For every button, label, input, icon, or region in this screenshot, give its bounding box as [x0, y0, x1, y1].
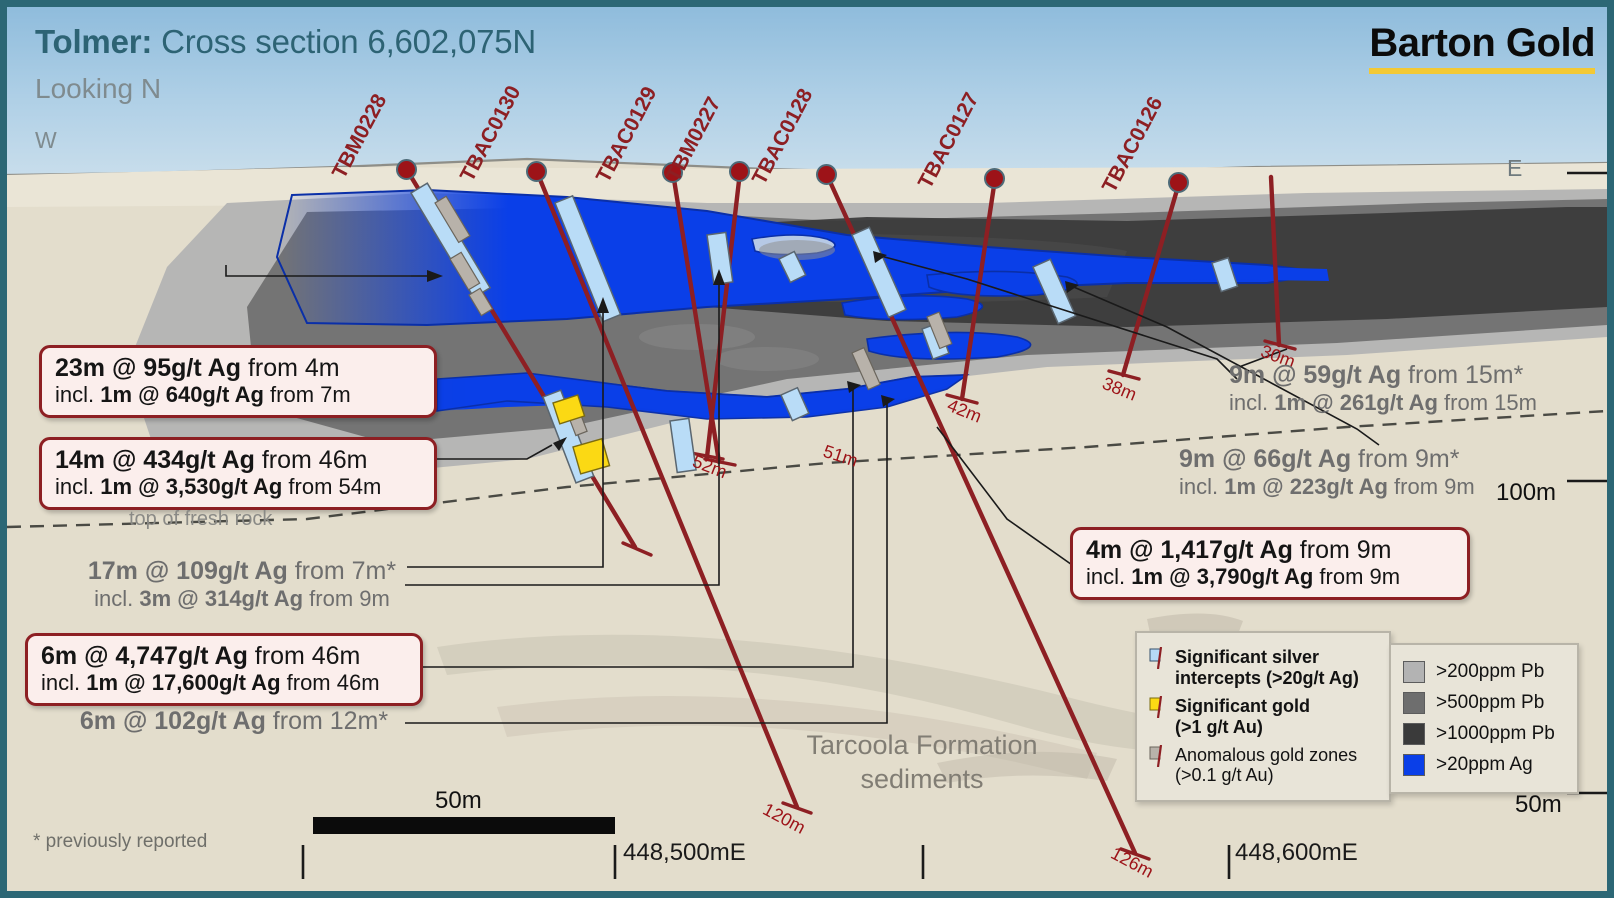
callout-box-6m-4747gt: 6m @ 4,747g/t Ag from 46m incl. 1m @ 17,… [25, 633, 423, 706]
intercept-label-6m-102gt: 6m @ 102g/t Ag from 12m* [69, 707, 399, 736]
legend-row-silver: Significant silver intercepts (>20g/t Ag… [1149, 647, 1377, 689]
logo-underline-bar [1369, 68, 1595, 74]
horizontal-scale-label: 50m [435, 787, 482, 815]
formation-label: Tarcoola Formation sediments [797, 729, 1047, 797]
callout-c3-line1-bold: 6m @ 4,747g/t Ag [41, 642, 248, 670]
callout-c4-line1-rest: from 9m [1293, 536, 1392, 564]
legend-label-20ppm-ag: >20ppm Ag [1436, 754, 1533, 776]
legend-gold-line1: Significant gold [1175, 696, 1310, 716]
callout-c2-line2-pre: incl. [55, 474, 100, 499]
callout-c4-line2-bold: 1m @ 3,790g/t Ag [1131, 564, 1313, 589]
west-marker: W [35, 127, 57, 154]
legend-silver-line1: Significant silver [1175, 647, 1319, 667]
anomalous-flag-icon [1149, 745, 1166, 767]
legend-anomalous-line1: Anomalous gold zones [1175, 745, 1357, 765]
grey-g3-line1-bold: 9m @ 59g/t Ag [1229, 361, 1401, 389]
legend-anomalous-text: Anomalous gold zones (>0.1 g/t Au) [1175, 745, 1357, 787]
grey-g4-line2-rest: from 9m [1388, 474, 1475, 499]
formation-line-2: sediments [797, 763, 1047, 797]
grey-g1-line2-bold: 3m @ 314g/t Ag [139, 586, 303, 611]
logo-text: Barton Gold [1369, 21, 1595, 66]
legend-geochem-row-500pb: >500ppm Pb [1403, 692, 1565, 714]
callout-c1-line1-rest: from 4m [241, 354, 340, 382]
collar-TBM0228[interactable] [396, 159, 417, 180]
grey-g3-line2-pre: incl. [1229, 390, 1274, 415]
grey-g1-line2-pre: incl. [94, 586, 139, 611]
title-rest: Cross section 6,602,075N [152, 23, 536, 60]
vertical-scale-label-100m: 100m [1496, 479, 1556, 507]
grey-g3-line2-bold: 1m @ 261g/t Ag [1274, 390, 1438, 415]
collar-TBAC0130[interactable] [526, 161, 547, 182]
silver-flag-icon [1149, 647, 1166, 669]
view-direction-subtitle: Looking N [35, 73, 161, 105]
callout-c4-line1-bold: 4m @ 1,417g/t Ag [1086, 536, 1293, 564]
grey-g4-line1-bold: 9m @ 66g/t Ag [1179, 445, 1351, 473]
legend-geochem-row-20ag: >20ppm Ag [1403, 754, 1565, 776]
grey-g2-line1-rest: from 12m* [266, 707, 388, 735]
page-title: Tolmer: Cross section 6,602,075N [35, 23, 536, 61]
grey-g4-line1-rest: from 9m* [1351, 445, 1459, 473]
swatch-1000ppm-pb [1403, 723, 1425, 745]
formation-line-1: Tarcoola Formation [797, 729, 1047, 763]
grey-g3-line1-rest: from 15m* [1401, 361, 1523, 389]
legend-geochem: >200ppm Pb >500ppm Pb >1000ppm Pb >20ppm… [1389, 643, 1579, 794]
collar-TBAC0128[interactable] [816, 164, 837, 185]
legend-geochem-row-1000pb: >1000ppm Pb [1403, 723, 1565, 745]
legend-label-500ppm-pb: >500ppm Pb [1436, 692, 1544, 714]
collar-TBM0227[interactable] [729, 161, 750, 182]
legend-gold-line2: (>1 g/t Au) [1175, 717, 1263, 737]
legend-anomalous-line2: (>0.1 g/t Au) [1175, 765, 1274, 785]
callout-c3-line2-pre: incl. [41, 670, 86, 695]
intercept-label-17m-109gt: 17m @ 109g/t Ag from 7m* incl. 3m @ 314g… [77, 557, 407, 612]
vertical-scale-label-50m: 50m [1515, 791, 1562, 819]
callout-c2-line2-rest: from 54m [282, 474, 381, 499]
legend-row-anomalous: Anomalous gold zones (>0.1 g/t Au) [1149, 745, 1377, 787]
legend-silver-text: Significant silver intercepts (>20g/t Ag… [1175, 647, 1359, 689]
callout-box-14m-434gt: 14m @ 434g/t Ag from 46m incl. 1m @ 3,53… [39, 437, 437, 510]
callout-box-4m-1417gt: 4m @ 1,417g/t Ag from 9m incl. 1m @ 3,79… [1070, 527, 1470, 600]
callout-c4-line2-rest: from 9m [1313, 564, 1400, 589]
swatch-20ppm-ag [1403, 754, 1425, 776]
swatch-500ppm-pb [1403, 692, 1425, 714]
callout-c2-line1-rest: from 46m [255, 446, 368, 474]
grey-g3-line2-rest: from 15m [1438, 390, 1537, 415]
intercept-label-9m-66gt: 9m @ 66g/t Ag from 9m* incl. 1m @ 223g/t… [1179, 445, 1475, 500]
east-marker: E [1507, 155, 1522, 182]
legend-label-1000ppm-pb: >1000ppm Pb [1436, 723, 1555, 745]
company-logo: Barton Gold [1369, 21, 1595, 74]
coordinate-label-448600mE: 448,600mE [1235, 839, 1358, 867]
legend-gold-text: Significant gold (>1 g/t Au) [1175, 696, 1310, 738]
previously-reported-note: * previously reported [33, 831, 207, 853]
callout-c2-line2-bold: 1m @ 3,530g/t Ag [100, 474, 282, 499]
callout-box-23m-95gt: 23m @ 95g/t Ag from 4m incl. 1m @ 640g/t… [39, 345, 437, 418]
legend-silver-line2: intercepts (>20g/t Ag) [1175, 668, 1359, 688]
callout-c1-line2-pre: incl. [55, 382, 100, 407]
title-bold: Tolmer: [35, 23, 152, 60]
legend-geochem-row-200pb: >200ppm Pb [1403, 661, 1565, 683]
grey-g1-line2-rest: from 9m [303, 586, 390, 611]
coordinate-label-448500mE: 448,500mE [623, 839, 746, 867]
grey-g1-line1-rest: from 7m* [288, 557, 396, 585]
grey-g2-line1-bold: 6m @ 102g/t Ag [80, 707, 266, 735]
callout-c3-line2-bold: 1m @ 17,600g/t Ag [86, 670, 280, 695]
cross-section-figure: Tolmer: Cross section 6,602,075N Looking… [0, 0, 1614, 898]
callout-c4-line2-pre: incl. [1086, 564, 1131, 589]
callout-c2-line1-bold: 14m @ 434g/t Ag [55, 446, 255, 474]
callout-c1-line2-bold: 1m @ 640g/t Ag [100, 382, 264, 407]
grey-g1-line1-bold: 17m @ 109g/t Ag [88, 557, 288, 585]
callout-c1-line2-rest: from 7m [264, 382, 351, 407]
legend-label-200ppm-pb: >200ppm Pb [1436, 661, 1544, 683]
gold-flag-icon [1149, 696, 1166, 718]
callout-c3-line2-rest: from 46m [281, 670, 380, 695]
legend-symbols: Significant silver intercepts (>20g/t Ag… [1135, 631, 1391, 802]
top-of-fresh-rock-label: top of fresh rock [129, 508, 272, 531]
legend-row-gold: Significant gold (>1 g/t Au) [1149, 696, 1377, 738]
intercept-label-9m-59gt: 9m @ 59g/t Ag from 15m* incl. 1m @ 261g/… [1229, 361, 1537, 416]
callout-c3-line1-rest: from 46m [248, 642, 361, 670]
callout-c1-line1-bold: 23m @ 95g/t Ag [55, 354, 241, 382]
swatch-200ppm-pb [1403, 661, 1425, 683]
grey-g4-line2-bold: 1m @ 223g/t Ag [1224, 474, 1388, 499]
collar-TBAC0126[interactable] [1168, 172, 1189, 193]
collar-TBAC0127[interactable] [984, 168, 1005, 189]
grey-g4-line2-pre: incl. [1179, 474, 1224, 499]
